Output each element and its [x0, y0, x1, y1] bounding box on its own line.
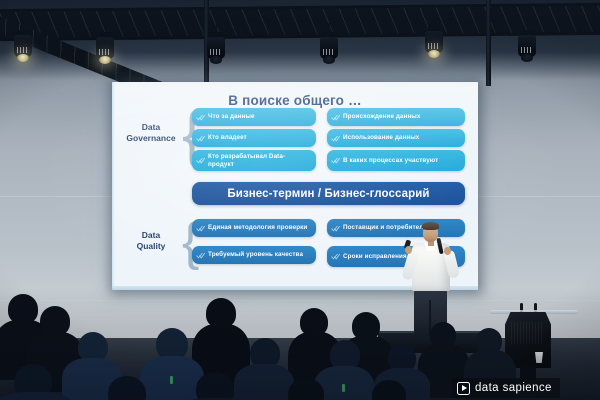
presenter-hair [422, 222, 439, 230]
conference-photo: В поиске общего … Data Governance { Что … [0, 0, 600, 400]
presenter-right-hand [444, 247, 451, 255]
section-label-line1: Data [120, 122, 182, 133]
chip-label: Кто разрабатывал Data-продукт [208, 153, 311, 169]
slide-title: В поиске общего … [112, 93, 478, 108]
watermark-logo: data sapience [452, 378, 560, 398]
chip-label: Происхождение данных [343, 113, 460, 121]
lanyard [342, 384, 345, 392]
chip-label: Использование данных [343, 134, 460, 142]
chip-governance-left-3[interactable]: Кто разрабатывал Data-продукт [192, 150, 316, 171]
double-check-icon [331, 113, 340, 122]
section-label-line1: Data [120, 230, 182, 241]
double-check-icon [196, 156, 205, 165]
double-check-icon [331, 252, 340, 261]
screen-edge [112, 82, 115, 290]
double-check-icon [331, 224, 340, 233]
double-check-icon [196, 224, 205, 233]
stage-light [14, 30, 32, 64]
truss-pole [486, 0, 491, 86]
chip-governance-right-2[interactable]: Использование данных [327, 129, 465, 147]
stage-light [425, 26, 443, 60]
presenter-left-hand [405, 246, 412, 254]
audience-body [234, 364, 294, 400]
chip-label: В каких процессах участвуют [343, 157, 460, 165]
chip-quality-left-1[interactable]: Единая методология проверки [192, 219, 316, 237]
play-triangle-icon [457, 382, 470, 395]
stage-light [518, 30, 536, 64]
section-label-governance: Data Governance [120, 122, 182, 145]
stage-light [96, 32, 114, 66]
chip-label: Поставщик и потребитель [343, 224, 460, 232]
section-label-line2: Quality [120, 241, 182, 252]
audience-head [196, 372, 234, 400]
chip-label: Что за данные [208, 113, 311, 121]
chip-governance-left-2[interactable]: Кто владеет [192, 129, 316, 147]
lanyard [170, 376, 173, 384]
chip-governance-right-1[interactable]: Происхождение данных [327, 108, 465, 126]
double-check-icon [331, 156, 340, 165]
chip-quality-right-1[interactable]: Поставщик и потребитель [327, 219, 465, 237]
chip-quality-left-2[interactable]: Требуемый уровень качества [192, 246, 316, 264]
chip-label: Единая методология проверки [208, 224, 311, 232]
double-check-icon [331, 134, 340, 143]
chip-label: Требуемый уровень качества [208, 251, 311, 259]
chip-governance-left-1[interactable]: Что за данные [192, 108, 316, 126]
double-check-icon [196, 113, 205, 122]
section-label-quality: Data Quality [120, 230, 182, 253]
lighting-truss [0, 3, 600, 41]
banner-business-glossary[interactable]: Бизнес-термин / Бизнес-глоссарий [192, 182, 465, 205]
section-label-line2: Governance [120, 133, 182, 144]
stage-light [320, 32, 338, 66]
double-check-icon [196, 251, 205, 260]
double-check-icon [196, 134, 205, 143]
chip-label: Кто владеет [208, 134, 311, 142]
watermark-text: data sapience [475, 382, 552, 394]
chip-governance-right-3[interactable]: В каких процессах участвуют [327, 150, 465, 171]
banner-label: Бизнес-термин / Бизнес-глоссарий [227, 188, 429, 200]
stage-light [207, 32, 225, 66]
